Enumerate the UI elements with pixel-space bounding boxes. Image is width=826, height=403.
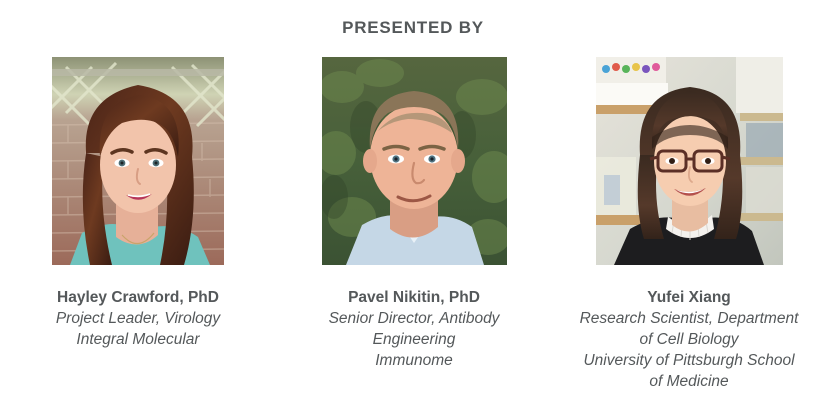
- speaker-list: Hayley Crawford, PhD Project Leader, Vir…: [0, 57, 826, 392]
- page-title: PRESENTED BY: [0, 17, 826, 38]
- speaker-role-line: Integral Molecular: [0, 329, 276, 350]
- speaker-card: Hayley Crawford, PhD Project Leader, Vir…: [0, 57, 276, 350]
- headshot-photo-pavel-nikitin: [322, 57, 507, 265]
- speaker-role-line: of Cell Biology: [552, 329, 826, 350]
- headshot-photo-yufei-xiang: [596, 57, 783, 265]
- speaker-role-line: Senior Director, Antibody: [276, 308, 552, 329]
- speaker-role-line: Immunome: [276, 350, 552, 371]
- speaker-role: Senior Director, Antibody Engineering Im…: [276, 308, 552, 371]
- speaker-name: Pavel Nikitin, PhD: [276, 287, 552, 308]
- speaker-caption: Hayley Crawford, PhD Project Leader, Vir…: [0, 287, 276, 350]
- speaker-role: Project Leader, Virology Integral Molecu…: [0, 308, 276, 350]
- speaker-role-line: University of Pittsburgh School: [552, 350, 826, 371]
- speaker-role-line: Project Leader, Virology: [0, 308, 276, 329]
- speaker-caption: Yufei Xiang Research Scientist, Departme…: [552, 287, 826, 392]
- speaker-card: Yufei Xiang Research Scientist, Departme…: [552, 57, 826, 392]
- speaker-caption: Pavel Nikitin, PhD Senior Director, Anti…: [276, 287, 552, 371]
- speaker-role-line: of Medicine: [552, 371, 826, 392]
- speaker-role-line: Research Scientist, Department: [552, 308, 826, 329]
- speaker-name: Yufei Xiang: [552, 287, 826, 308]
- speaker-role-line: Engineering: [276, 329, 552, 350]
- speaker-role: Research Scientist, Department of Cell B…: [552, 308, 826, 392]
- headshot-photo-hayley-crawford: [52, 57, 224, 265]
- speaker-name: Hayley Crawford, PhD: [0, 287, 276, 308]
- presenters-panel: PRESENTED BY: [0, 0, 826, 403]
- speaker-card: Pavel Nikitin, PhD Senior Director, Anti…: [276, 57, 552, 371]
